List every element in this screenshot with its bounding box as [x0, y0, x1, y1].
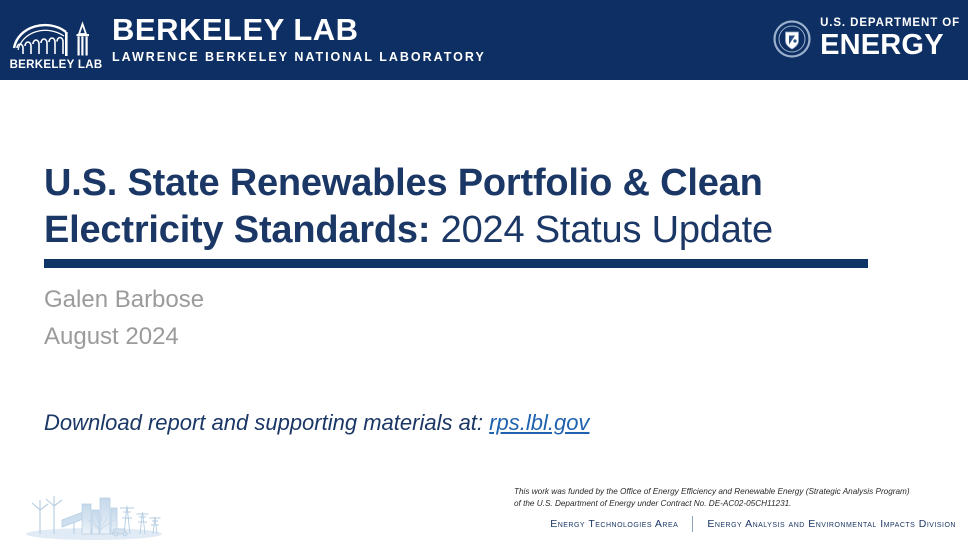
doe-logo: U.S. DEPARTMENT OF ENERGY: [773, 14, 960, 64]
download-prefix-text: Download report and supporting materials…: [44, 410, 483, 435]
download-line: Download report and supporting materials…: [44, 410, 589, 436]
title-underline-rule: [44, 259, 868, 268]
svg-text:BERKELEY LAB: BERKELEY LAB: [10, 59, 103, 71]
funding-acknowledgement: This work was funded by the Office of En…: [514, 486, 914, 509]
page-title: U.S. State Renewables Portfolio & Clean …: [44, 160, 884, 254]
berkeley-lab-wordmark: BERKELEY LAB LAWRENCE BERKELEY NATIONAL …: [112, 13, 486, 65]
berkeley-lab-logo-icon: BERKELEY LAB: [8, 8, 104, 72]
footer-divider: [692, 516, 693, 532]
byline: Galen Barbose August 2024: [44, 281, 204, 355]
doe-seal-icon: [773, 20, 811, 58]
author-name: Galen Barbose: [44, 281, 204, 318]
footer-division-label: Energy Analysis and Environmental Impact…: [707, 518, 956, 530]
page-title-line1: U.S. State Renewables Portfolio & Clean: [44, 162, 763, 204]
berkeley-lab-wordmark-main: BERKELEY LAB: [112, 13, 486, 47]
report-download-link[interactable]: rps.lbl.gov: [489, 410, 589, 435]
footer-bar: Energy Technologies Area Energy Analysis…: [0, 510, 968, 540]
footer-area-label: Energy Technologies Area: [550, 518, 678, 530]
footer-labels: Energy Technologies Area Energy Analysis…: [550, 516, 956, 532]
page-title-line2-regular: 2024 Status Update: [441, 209, 773, 251]
doe-wordmark: U.S. DEPARTMENT OF ENERGY: [820, 17, 960, 61]
presentation-date: August 2024: [44, 318, 204, 355]
berkeley-lab-wordmark-sub: LAWRENCE BERKELEY NATIONAL LABORATORY: [112, 49, 486, 65]
page-title-line2-bold: Electricity Standards:: [44, 209, 430, 251]
doe-wordmark-main: ENERGY: [820, 30, 960, 61]
header-bar: BERKELEY LAB BERKELEY LAB LAWRENCE BERKE…: [0, 0, 968, 80]
